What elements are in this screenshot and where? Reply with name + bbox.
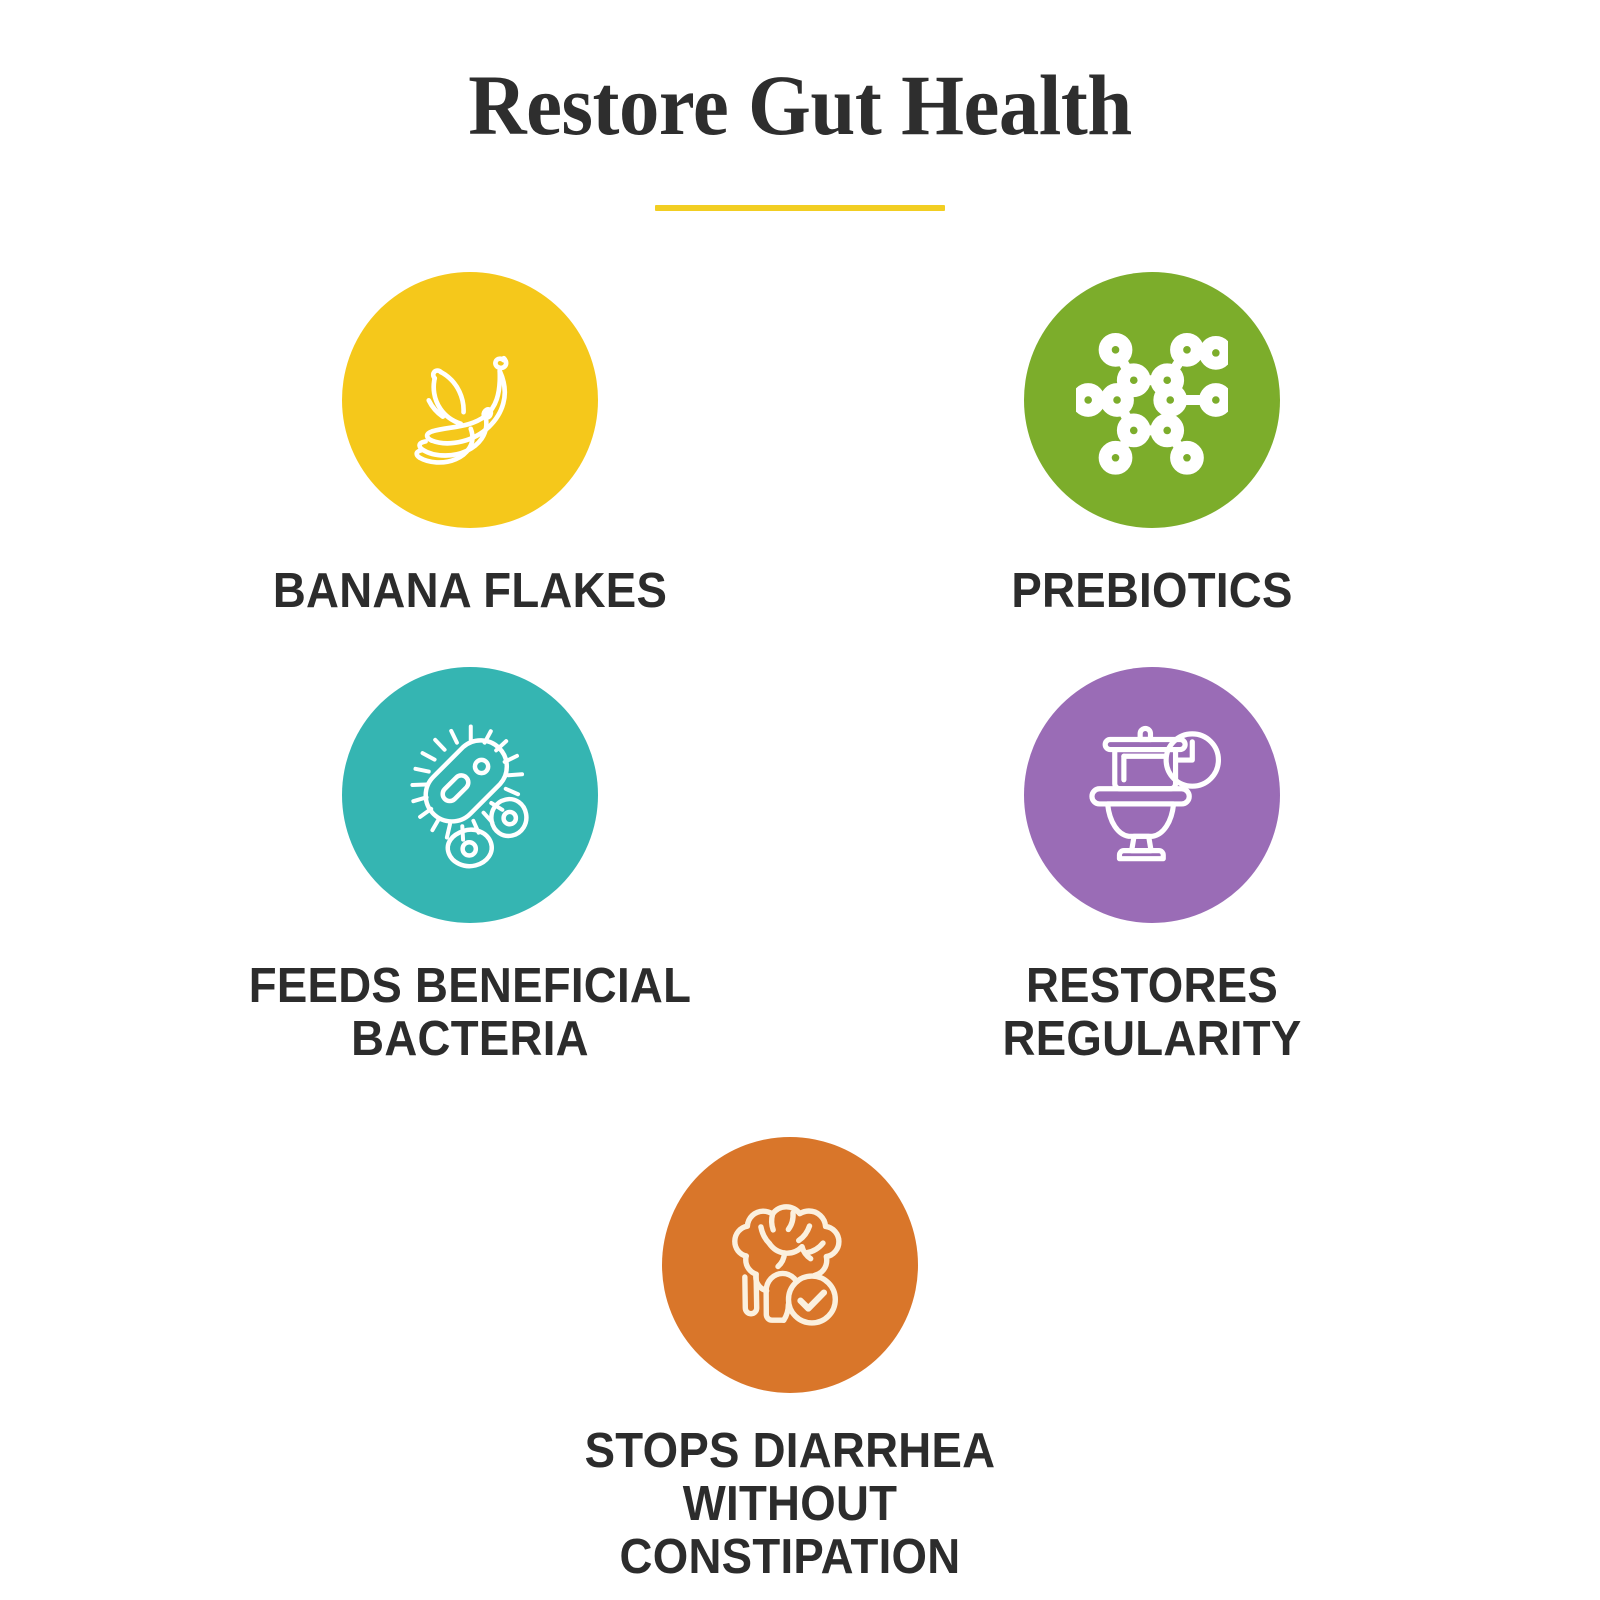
intestines-check-icon xyxy=(715,1190,865,1340)
stops-diarrhea-icon-badge xyxy=(662,1137,918,1393)
feature-feeds-beneficial-bacteria: FEEDS BENEFICIAL BACTERIA xyxy=(230,667,710,1066)
feature-banana-flakes: BANANA FLAKES xyxy=(230,272,710,618)
prebiotics-icon-badge xyxy=(1024,272,1280,528)
feature-restores-regularity: RESTORES REGULARITY xyxy=(912,667,1392,1066)
feeds-bacteria-icon-badge xyxy=(342,667,598,923)
molecule-network-icon xyxy=(1076,324,1228,476)
bacteria-microbe-icon xyxy=(393,718,547,872)
feature-stops-diarrhea: STOPS DIARRHEA WITHOUT CONSTIPATION xyxy=(550,1137,1030,1584)
feature-label: STOPS DIARRHEA WITHOUT CONSTIPATION xyxy=(567,1425,1013,1584)
banana-bunch-icon xyxy=(395,325,545,475)
feature-label: BANANA FLAKES xyxy=(247,565,693,618)
restores-regularity-icon-badge xyxy=(1024,667,1280,923)
feature-label: FEEDS BENEFICIAL BACTERIA xyxy=(247,960,693,1066)
banana-flakes-icon-badge xyxy=(342,272,598,528)
feature-grid: BANANA FLAKES xyxy=(0,0,1600,1600)
infographic-page: Restore Gut Health xyxy=(0,0,1600,1600)
toilet-clock-icon xyxy=(1076,719,1228,871)
feature-prebiotics: PREBIOTICS xyxy=(912,272,1392,618)
feature-label: PREBIOTICS xyxy=(929,565,1375,618)
feature-label: RESTORES REGULARITY xyxy=(929,960,1375,1066)
